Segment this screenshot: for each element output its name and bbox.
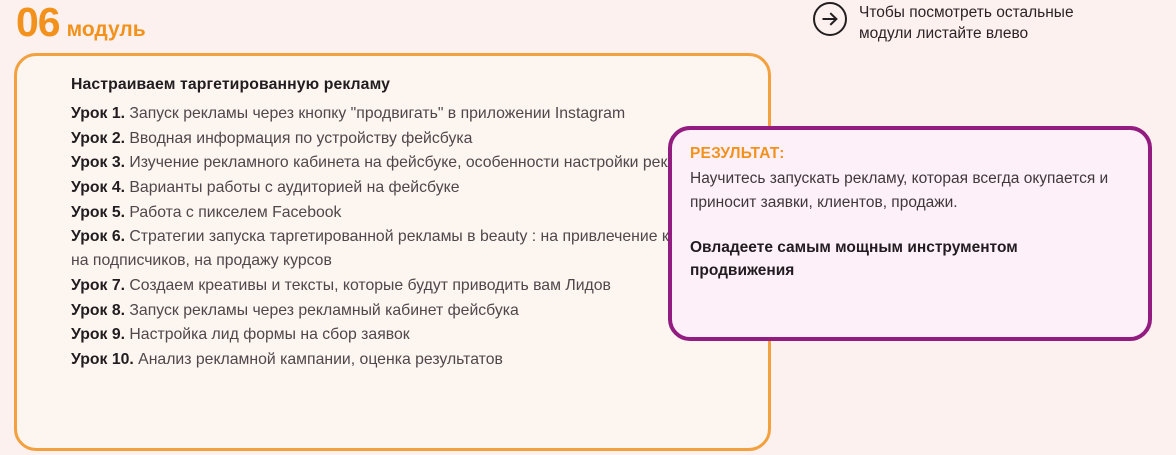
lesson-label: Урок 7. (71, 277, 125, 294)
lesson-label: Урок 8. (71, 302, 125, 319)
swipe-hint[interactable]: Чтобы посмотреть остальные модули листай… (812, 0, 1074, 44)
result-card: РЕЗУЛЬТАТ: Научитесь запускать рекламу, … (668, 126, 1152, 341)
lesson-text: Варианты работы с аудиторией на фейсбуке (125, 179, 459, 196)
lessons-card-title: Настраиваем таргетированную рекламу (71, 76, 742, 94)
module-header: 06 модуль (16, 2, 146, 43)
lesson-item: Урок 5. Работа с пикселем Facebook (71, 201, 742, 225)
result-card-highlight: Овладеете самым мощным инструментом прод… (690, 236, 1126, 283)
lesson-item: Урок 2. Вводная информация по устройству… (71, 127, 742, 151)
lesson-label: Урок 9. (71, 326, 125, 343)
lesson-label: Урок 4. (71, 179, 125, 196)
lesson-item: Урок 4. Варианты работы с аудиторией на … (71, 176, 742, 200)
lessons-card-content: Настраиваем таргетированную рекламу Урок… (17, 56, 768, 372)
module-number: 06 (16, 2, 60, 43)
lesson-label: Урок 10. (71, 351, 134, 368)
lesson-label: Урок 6. (71, 228, 125, 245)
lessons-card: Настраиваем таргетированную рекламу Урок… (14, 53, 771, 451)
lesson-text: Стратегии запуска таргетированной реклам… (71, 228, 733, 269)
lesson-item: Урок 6. Стратегии запуска таргетированно… (71, 225, 742, 272)
result-card-title: РЕЗУЛЬТАТ: (690, 145, 1126, 163)
lesson-item: Урок 9. Настройка лид формы на сбор заяв… (71, 323, 742, 347)
lesson-text: Изучение рекламного кабинета на фейсбуке… (125, 154, 708, 171)
lesson-label: Урок 5. (71, 204, 125, 221)
lesson-text: Вводная информация по устройству фейсбук… (125, 130, 472, 147)
result-card-content: РЕЗУЛЬТАТ: Научитесь запускать рекламу, … (672, 130, 1148, 283)
lesson-item: Урок 7. Создаем креативы и тексты, котор… (71, 274, 742, 298)
lesson-text: Запуск рекламы через рекламный кабинет ф… (125, 302, 519, 319)
lesson-label: Урок 1. (71, 105, 125, 122)
lesson-text: Настройка лид формы на сбор заявок (125, 326, 410, 343)
lesson-text: Создаем креативы и тексты, которые будут… (125, 277, 611, 294)
lesson-text: Работа с пикселем Facebook (125, 204, 341, 221)
lesson-item: Урок 3. Изучение рекламного кабинета на … (71, 151, 742, 175)
module-word-label: модуль (67, 19, 146, 40)
lesson-label: Урок 2. (71, 130, 125, 147)
arrow-right-circle-icon[interactable] (812, 1, 848, 37)
swipe-hint-text: Чтобы посмотреть остальные модули листай… (859, 0, 1074, 44)
lesson-label: Урок 3. (71, 154, 125, 171)
lesson-item: Урок 1. Запуск рекламы через кнопку "про… (71, 102, 742, 126)
lesson-text: Запуск рекламы через кнопку "продвигать"… (125, 105, 625, 122)
lesson-text: Анализ рекламной кампании, оценка резуль… (134, 351, 503, 368)
lesson-item: Урок 10. Анализ рекламной кампании, оцен… (71, 348, 742, 372)
lesson-item: Урок 8. Запуск рекламы через рекламный к… (71, 299, 742, 323)
result-card-body: Научитесь запускать рекламу, которая все… (690, 167, 1126, 214)
